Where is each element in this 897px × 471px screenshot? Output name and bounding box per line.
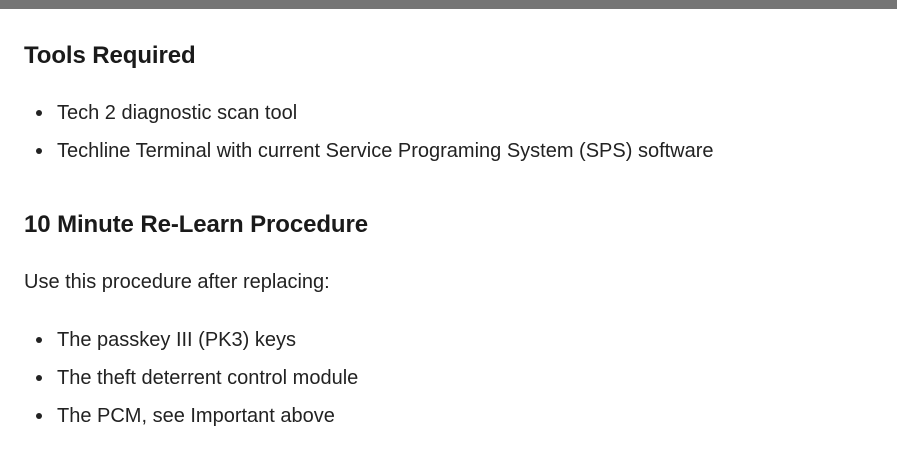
relearn-intro-paragraph: Use this procedure after replacing: [24,240,873,295]
document-body: Tools Required Tech 2 diagnostic scan to… [0,9,897,435]
list-item: The theft deterrent control module [24,359,873,397]
list-item-label: The PCM, see Important above [57,405,335,427]
list-item-label: The passkey III (PK3) keys [57,329,296,351]
bullet-dot-icon [36,148,42,154]
list-item: The PCM, see Important above [24,397,873,435]
list-item: The passkey III (PK3) keys [24,321,873,359]
list-item: Tech 2 diagnostic scan tool [24,94,873,132]
section-heading-relearn-procedure: 10 Minute Re-Learn Procedure [24,170,873,240]
bullet-dot-icon [36,337,42,343]
top-gray-bar [0,0,897,9]
bullet-dot-icon [36,110,42,116]
list-item-label: Tech 2 diagnostic scan tool [57,102,297,124]
tools-required-list: Tech 2 diagnostic scan tool Techline Ter… [24,71,873,170]
list-item-label: Techline Terminal with current Service P… [57,140,714,162]
bullet-dot-icon [36,413,42,419]
bullet-dot-icon [36,375,42,381]
list-item: Techline Terminal with current Service P… [24,132,873,170]
list-item-label: The theft deterrent control module [57,367,358,389]
replacing-items-list: The passkey III (PK3) keys The theft det… [24,295,873,435]
section-heading-tools-required: Tools Required [24,9,873,71]
